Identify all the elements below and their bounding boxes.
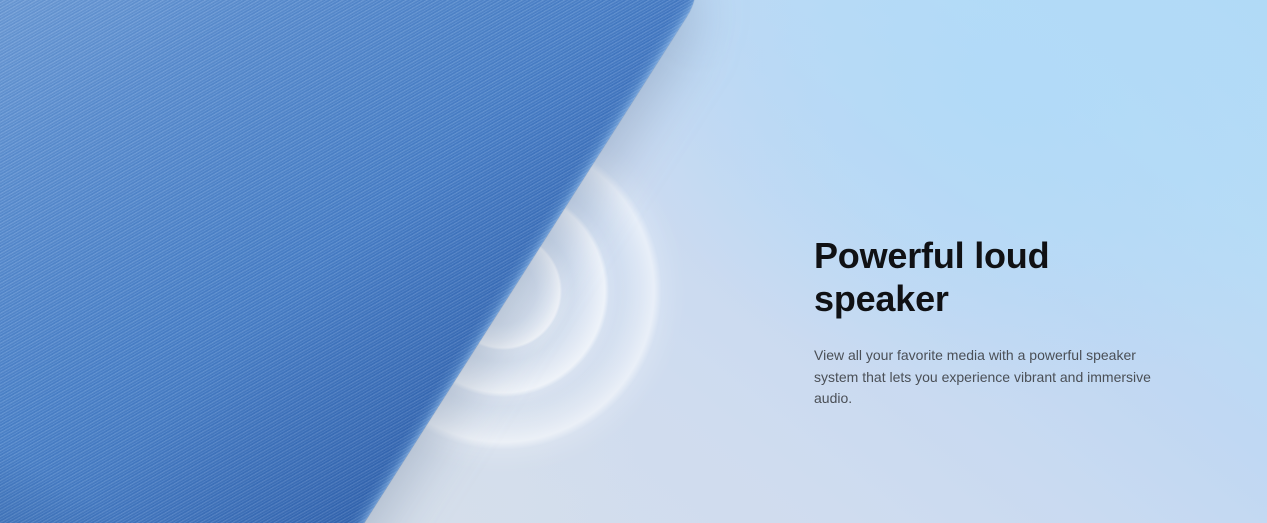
feature-copy-block: Powerful loud speaker View all your favo… <box>814 234 1162 410</box>
product-feature-banner: Powerful loud speaker View all your favo… <box>0 0 1267 523</box>
feature-description: View all your favorite media with a powe… <box>814 345 1154 410</box>
smartphone-image <box>0 0 720 523</box>
panel-sheen <box>0 0 720 523</box>
smartphone-back-panel <box>0 0 720 523</box>
feature-heading: Powerful loud speaker <box>814 234 1162 320</box>
